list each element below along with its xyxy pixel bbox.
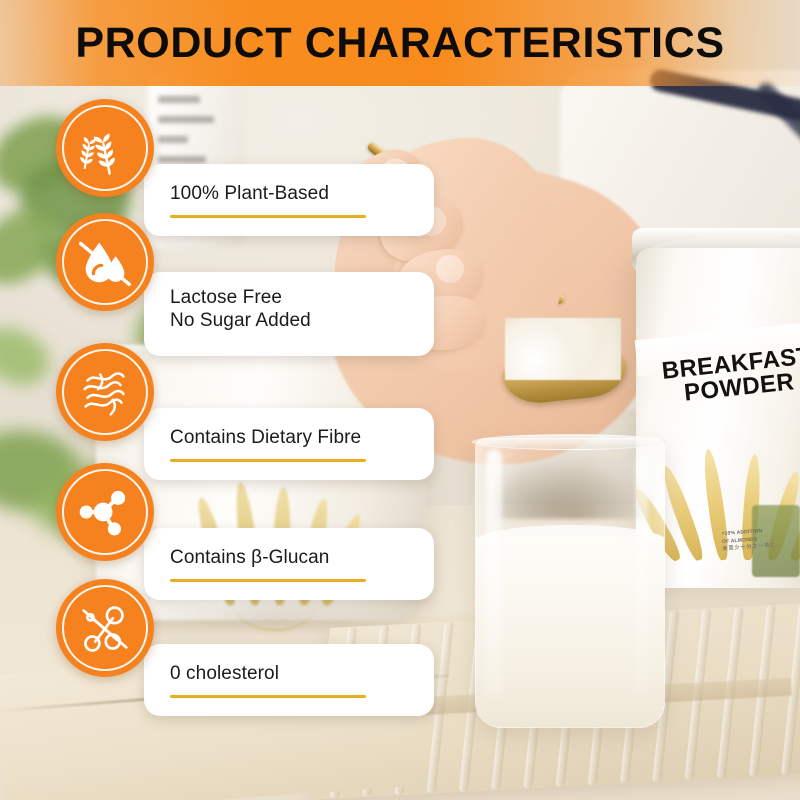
wheat-icon [56,99,154,197]
feature-label: Contains Dietary Fibre [170,426,434,449]
feature-card: 100% Plant-Based [144,164,434,236]
product-characteristics-image: BREAKFAST POWDER >10% ADDITION OF ALMOND… [0,0,800,800]
dietary-fibre-icon [56,343,154,441]
feature-card: Lactose Free No Sugar Added [144,272,434,356]
feature-label: 0 cholesterol [170,662,434,685]
feature-label: Contains β-Glucan [170,546,434,569]
no-lactose-droplet-icon [56,213,154,311]
feature-card: Contains Dietary Fibre [144,408,434,480]
feature-card: 0 cholesterol [144,644,434,716]
molecule-icon [56,463,154,561]
feature-underline [170,579,366,582]
feature-label-line2: No Sugar Added [170,309,434,332]
feature-underline [170,459,366,462]
feature-list: 100% Plant-Based [0,0,800,800]
feature-label: 100% Plant-Based [170,182,434,205]
feature-label-line1: Lactose Free [170,286,434,309]
feature-underline [170,215,366,218]
feature-card: Contains β-Glucan [144,528,434,600]
no-cholesterol-icon [56,579,154,677]
feature-underline [170,695,366,698]
